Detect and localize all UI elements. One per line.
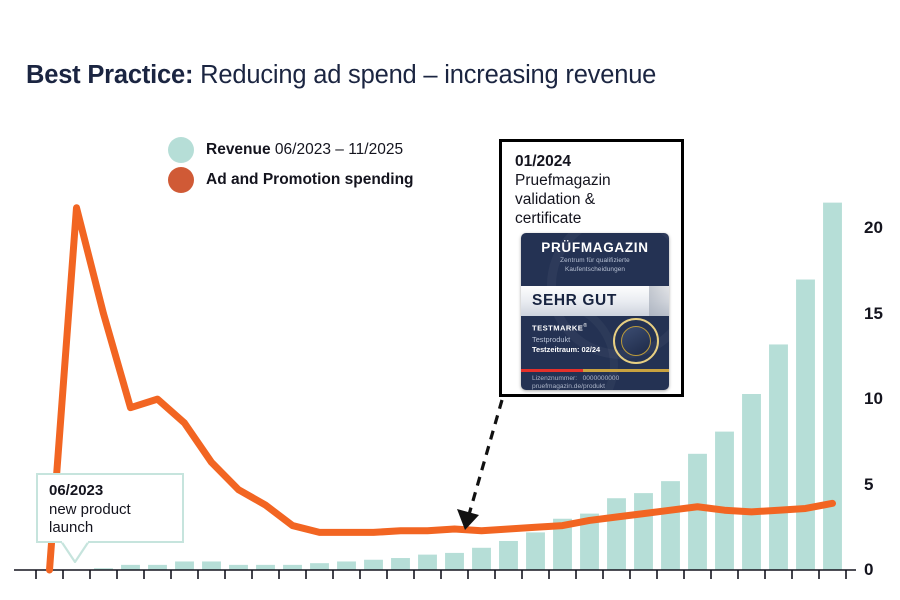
bar	[445, 553, 464, 570]
badge-divider	[521, 369, 669, 372]
badge-seal-inner	[621, 326, 651, 356]
annotation-arrow	[457, 400, 502, 530]
bar	[391, 558, 410, 570]
badge-license: Lizenznummer: 0000000000	[532, 375, 619, 382]
bar	[796, 280, 815, 570]
bar	[661, 481, 680, 570]
badge-url: pruefmagazin.de/produkt	[532, 383, 619, 390]
callout-launch-line2: launch	[49, 519, 182, 537]
bar	[337, 561, 356, 570]
callout-cert-title: 01/2024	[515, 152, 681, 172]
badge-header: PRÜFMAGAZIN Zentrum für qualifizierte Ka…	[521, 240, 669, 274]
bar	[472, 548, 491, 570]
callout-product-launch[interactable]: 06/2023 new product launch	[36, 473, 184, 543]
badge-product: Testprodukt	[532, 335, 600, 344]
chart-canvas: Best Practice: Reducing ad spend – incre…	[0, 0, 900, 600]
y-axis-tick-label: 5	[864, 475, 898, 495]
pruefmagazin-badge-image: PRÜFMAGAZIN Zentrum für qualifizierte Ka…	[521, 233, 669, 390]
bar	[688, 454, 707, 570]
bar	[634, 493, 653, 570]
badge-grade-ribbon: SEHR GUT	[521, 286, 669, 316]
badge-seal-icon	[613, 318, 659, 364]
badge-footer: Lizenznummer: 0000000000 pruefmagazin.de…	[532, 375, 619, 390]
callout-launch-title: 06/2023	[49, 482, 182, 501]
bar	[364, 560, 383, 570]
y-axis-tick-label: 10	[864, 389, 898, 409]
bar	[418, 555, 437, 570]
badge-ribbon-shadow	[649, 286, 669, 316]
x-axis	[14, 570, 856, 579]
badge-subtitle-line2: Kaufentscheidungen	[565, 266, 625, 273]
callout-cert-line3: certificate	[515, 210, 681, 229]
bar	[742, 394, 761, 570]
bar	[202, 561, 221, 570]
bar	[715, 432, 734, 570]
bar	[823, 203, 842, 570]
bar	[175, 561, 194, 570]
badge-testmark-label: TESTMARKE®	[532, 323, 600, 333]
bar	[310, 563, 329, 570]
y-axis-tick-label: 0	[864, 560, 898, 580]
y-axis-tick-label: 15	[864, 304, 898, 324]
bar	[526, 532, 545, 570]
badge-test-period: Testzeitraum: 02/24	[532, 345, 600, 354]
callout-launch-pointer	[60, 541, 90, 563]
bar	[499, 541, 518, 570]
badge-brand: PRÜFMAGAZIN	[521, 240, 669, 255]
callout-cert-line1: Pruefmagazin	[515, 172, 681, 191]
badge-subtitle: Zentrum für qualifizierte Kaufentscheidu…	[521, 257, 669, 274]
badge-details: TESTMARKE® Testprodukt Testzeitraum: 02/…	[532, 323, 600, 354]
bar	[769, 344, 788, 570]
badge-grade-text: SEHR GUT	[532, 292, 617, 310]
bar	[607, 498, 626, 570]
callout-launch-line1: new product	[49, 501, 182, 519]
y-axis-tick-label: 20	[864, 218, 898, 238]
badge-subtitle-line1: Zentrum für qualifizierte	[560, 257, 630, 264]
callout-cert-line2: validation &	[515, 191, 681, 210]
